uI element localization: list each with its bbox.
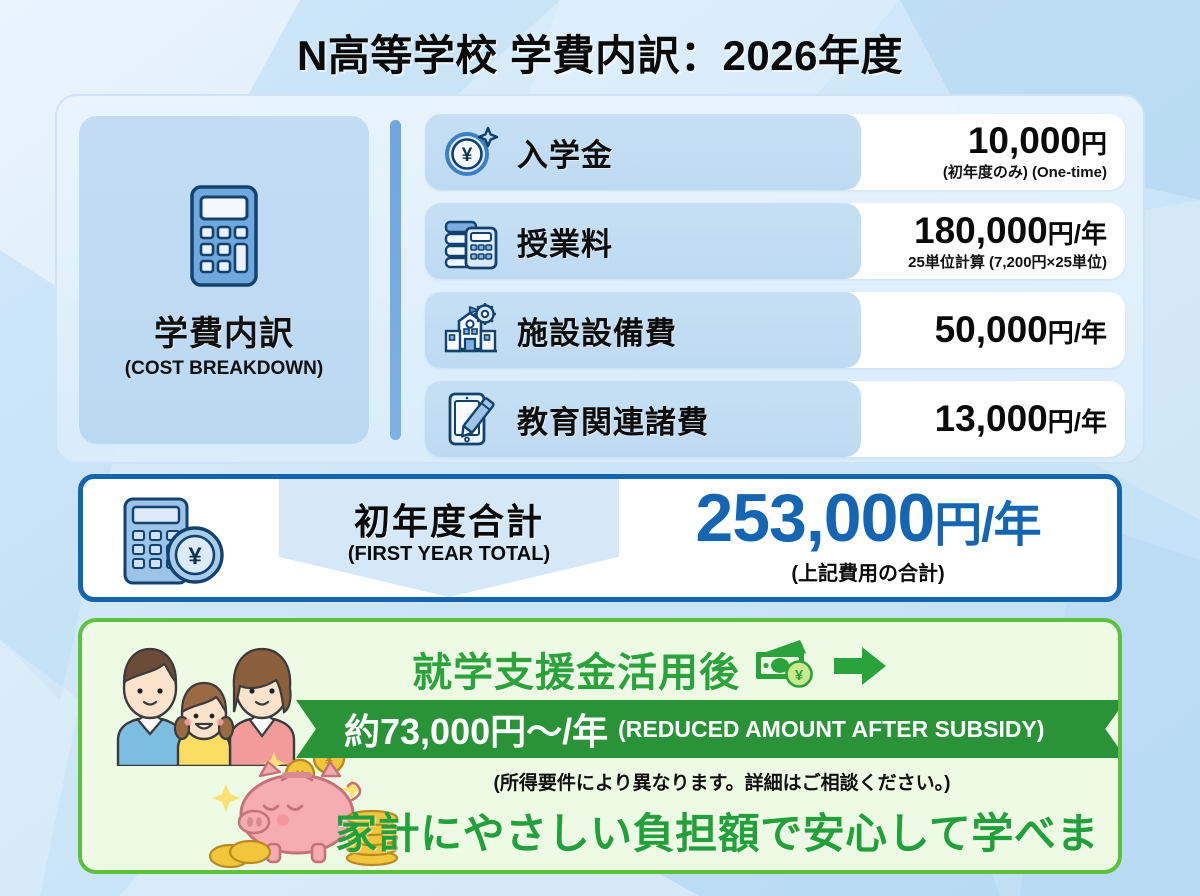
total-label-sub: (FIRST YEAR TOTAL) bbox=[279, 543, 619, 566]
total-note: (上記費用の合計) bbox=[623, 557, 1113, 586]
subsidy-heading-row: 就学支援金活用後 ¥ bbox=[412, 638, 1062, 699]
fee-value: 50,000円/年 bbox=[935, 292, 1107, 368]
fee-amount: 50,000円/年 bbox=[935, 311, 1107, 349]
fee-amount: 10,000円 bbox=[968, 122, 1107, 160]
yen-coin-icon: ¥ bbox=[425, 122, 517, 182]
fee-label: 授業料 bbox=[517, 219, 613, 264]
subsidy-heading: 就学支援金活用後 bbox=[412, 640, 740, 698]
subsidy-fine-print: (所得要件により異なります。詳細はご相談ください。) bbox=[342, 768, 1102, 795]
fee-label: 教育関連諸費 bbox=[517, 397, 709, 442]
fee-note: (初年度のみ) (One-time) bbox=[943, 161, 1107, 182]
money-bill-yen-icon: ¥ bbox=[750, 638, 822, 699]
subsidy-amount-english: (REDUCED AMOUNT AFTER SUBSIDY) bbox=[618, 716, 1044, 743]
cost-breakdown-subtitle: (COST BREAKDOWN) bbox=[125, 358, 323, 380]
svg-text:¥: ¥ bbox=[462, 145, 473, 166]
calculator-yen-icon: ¥ bbox=[113, 493, 243, 598]
fee-label-chip: 授業料 bbox=[425, 203, 861, 279]
fee-amount-unit: 円/年 bbox=[1048, 219, 1107, 249]
subsidy-amount-ribbon: 約73,000円～/年 (REDUCED AMOUNT AFTER SUBSID… bbox=[296, 700, 1122, 758]
total-amount: 253,000円/年 bbox=[623, 483, 1113, 554]
fee-amount-unit: 円/年 bbox=[1048, 407, 1107, 437]
fee-row-list: ¥ 入学金 10,000円 (初年度のみ) (One-time) bbox=[425, 114, 1125, 470]
cost-breakdown-card: 学費内訳 (COST BREAKDOWN) ¥ 入学金 10,000円 bbox=[55, 94, 1145, 464]
table-row: 施設設備費 50,000円/年 bbox=[425, 292, 1125, 368]
fee-note: 25単位計算 (7,200円×25単位) bbox=[908, 251, 1107, 272]
subsidy-message: 家計にやさしい負担額で安心して学べます。 bbox=[322, 800, 1112, 874]
fee-amount-number: 10,000 bbox=[968, 120, 1081, 161]
fee-amount-number: 180,000 bbox=[914, 210, 1048, 251]
school-gear-icon bbox=[425, 301, 517, 359]
fee-label: 入学金 bbox=[517, 130, 613, 175]
fee-label: 施設設備費 bbox=[517, 308, 677, 353]
fee-value: 13,000円/年 bbox=[935, 381, 1107, 457]
calculator-icon bbox=[176, 181, 272, 296]
cost-breakdown-title: 学費内訳 bbox=[154, 306, 294, 355]
fee-label-chip: ¥ 入学金 bbox=[425, 114, 861, 190]
table-row: 教育関連諸費 13,000円/年 bbox=[425, 381, 1125, 457]
fee-value: 10,000円 (初年度のみ) (One-time) bbox=[943, 114, 1107, 190]
table-row: 授業料 180,000円/年 25単位計算 (7,200円×25単位) bbox=[425, 203, 1125, 279]
fee-amount-unit: 円/年 bbox=[1048, 318, 1107, 348]
svg-text:¥: ¥ bbox=[795, 667, 804, 684]
total-amount-number: 253,000 bbox=[695, 480, 934, 556]
total-label-main: 初年度合計 bbox=[279, 493, 619, 545]
subsidy-card: ¥ ¥ bbox=[78, 618, 1122, 874]
fee-amount-number: 13,000 bbox=[935, 398, 1048, 439]
fee-label-chip: 教育関連諸費 bbox=[425, 381, 861, 457]
total-amount-unit: 円/年 bbox=[934, 499, 1040, 552]
fee-value: 180,000円/年 25単位計算 (7,200円×25単位) bbox=[908, 203, 1107, 279]
fee-amount-unit: 円 bbox=[1081, 129, 1107, 159]
cost-breakdown-panel: 学費内訳 (COST BREAKDOWN) bbox=[79, 116, 369, 444]
page-title: N高等学校 学費内訳：2026年度 bbox=[0, 22, 1200, 83]
fee-label-chip: 施設設備費 bbox=[425, 292, 861, 368]
fee-amount: 13,000円/年 bbox=[935, 400, 1107, 438]
total-label: 初年度合計 (FIRST YEAR TOTAL) bbox=[279, 493, 619, 566]
vertical-divider bbox=[390, 120, 401, 440]
tablet-pencil-icon bbox=[425, 388, 517, 450]
fee-amount: 180,000円/年 bbox=[914, 212, 1107, 250]
books-calculator-icon bbox=[425, 210, 517, 272]
fee-amount-number: 50,000 bbox=[935, 309, 1048, 350]
svg-text:¥: ¥ bbox=[188, 543, 202, 570]
table-row: ¥ 入学金 10,000円 (初年度のみ) (One-time) bbox=[425, 114, 1125, 190]
arrow-right-icon bbox=[832, 645, 888, 692]
subsidy-amount: 約73,000円～/年 bbox=[344, 703, 608, 755]
first-year-total-bar: ¥ 初年度合計 (FIRST YEAR TOTAL) 253,000円/年 (上… bbox=[78, 474, 1122, 602]
